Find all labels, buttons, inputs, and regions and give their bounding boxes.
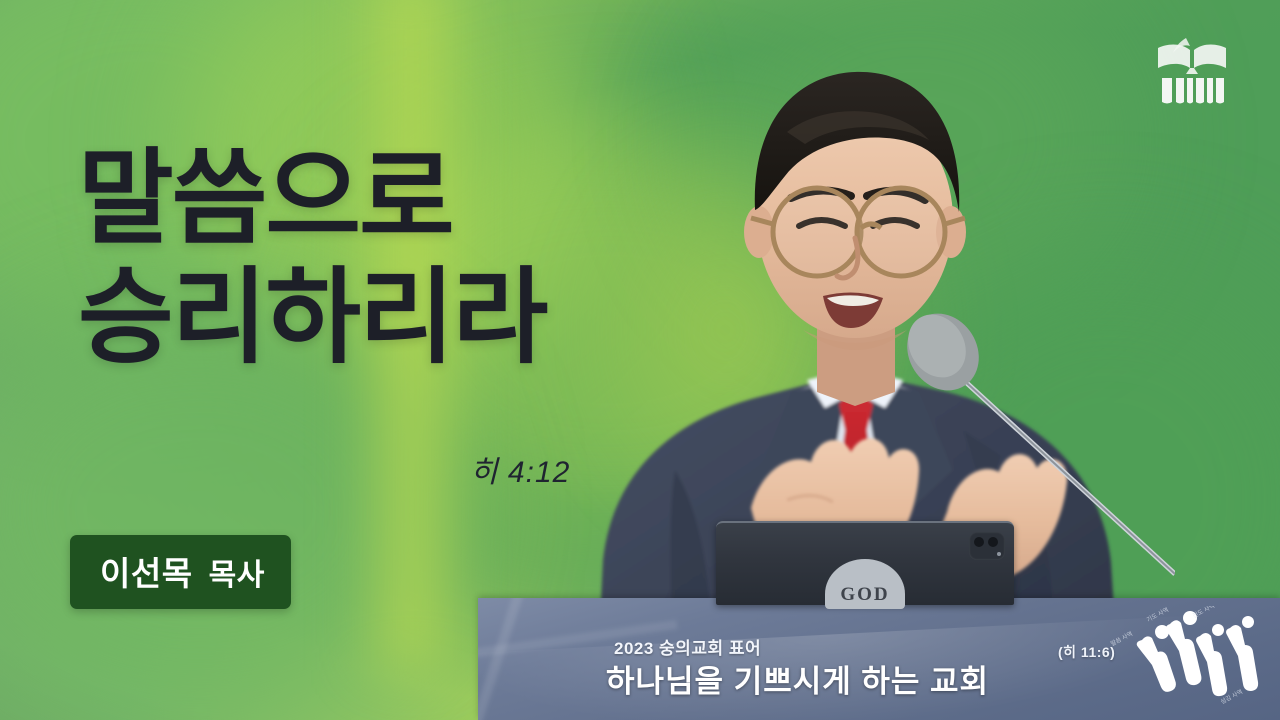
raised-arms-people-icon: 말씀 사역 기도 사역 전도 사역 섬김 사역 [1102, 606, 1272, 714]
broadcast-screen: 말씀으로 승리하리라 히 4:12 이선목 목사 [0, 0, 1280, 720]
god-sticker: GOD [825, 559, 905, 609]
svg-text:전도 사역: 전도 사역 [1191, 606, 1216, 620]
sermon-title: 말씀으로 승리하리라 [78, 140, 546, 377]
svg-text:기도 사역: 기도 사역 [1145, 606, 1170, 624]
banner-slogan: 하나님을 기쁘시게 하는 교회 [606, 656, 989, 701]
svg-text:말씀 사역: 말씀 사역 [1109, 630, 1134, 648]
open-book-logo-icon [1146, 20, 1238, 112]
tablet-device: GOD [716, 521, 1014, 605]
scripture-reference: 히 4:12 [470, 447, 570, 491]
speaker-title: 목사 [209, 550, 265, 594]
speaker-name: 이선목 [100, 547, 193, 595]
church-logo [1146, 20, 1238, 112]
dual-camera-module-icon [969, 532, 1005, 560]
sermon-title-line-2: 승리하리라 [78, 259, 546, 378]
pulpit-banner: 2023 숭의교회 표어 하나님을 기쁘시게 하는 교회 (히 11:6) 말씀… [478, 598, 1280, 720]
sermon-title-line-1: 말씀으로 [78, 140, 546, 259]
speaker-name-badge: 이선목 목사 [70, 535, 291, 609]
god-sticker-label: GOD [840, 584, 889, 606]
